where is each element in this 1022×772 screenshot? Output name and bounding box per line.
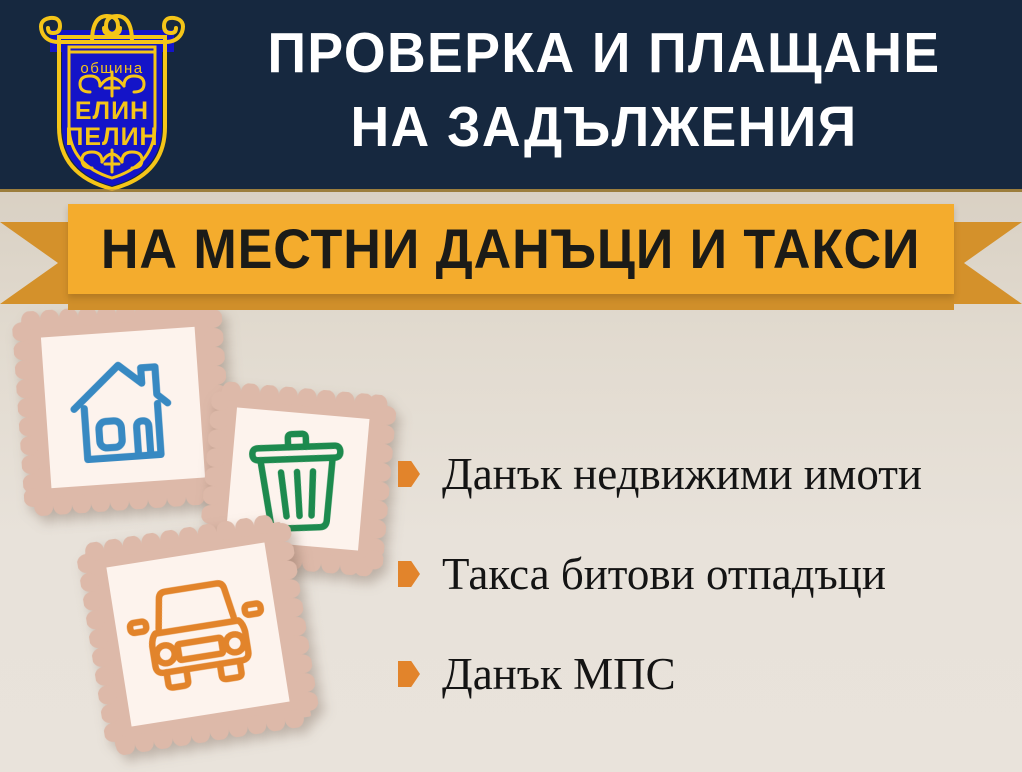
stamp-collage bbox=[0, 300, 420, 772]
crest-label-line2: ПЕЛИН bbox=[65, 123, 158, 151]
header-bottom-accent bbox=[0, 189, 1022, 192]
header-title-line-1: ПРОВЕРКА И ПЛАЩАНЕ bbox=[220, 16, 987, 90]
header-banner: община ЕЛИН ПЕЛИН bbox=[0, 0, 1022, 192]
ribbon-label: НА МЕСТНИ ДАНЪЦИ И ТАКСИ bbox=[101, 220, 921, 278]
stamp-paper-house bbox=[41, 327, 205, 488]
poster-root: община ЕЛИН ПЕЛИН bbox=[0, 0, 1022, 772]
shield-crest-icon: община ЕЛИН ПЕЛИН bbox=[28, 6, 196, 192]
municipality-crest: община ЕЛИН ПЕЛИН bbox=[28, 6, 196, 192]
crest-label-line1: ЕЛИН bbox=[75, 97, 149, 125]
list-item[interactable]: Данък недвижими имоти bbox=[398, 424, 1018, 524]
bullet-arrow-icon bbox=[398, 461, 420, 487]
bullet-arrow-icon bbox=[398, 661, 420, 687]
tax-type-list: Данък недвижими имоти Такса битови отпад… bbox=[398, 424, 1018, 724]
header-title-block: ПРОВЕРКА И ПЛАЩАНЕ НА ЗАДЪЛЖЕНИЯ bbox=[196, 16, 1012, 164]
list-item[interactable]: Такса битови отпадъци bbox=[398, 524, 1018, 624]
ribbon-banner: НА МЕСТНИ ДАНЪЦИ И ТАКСИ bbox=[68, 204, 954, 294]
bullet-arrow-icon bbox=[398, 561, 420, 587]
list-item[interactable]: Данък МПС bbox=[398, 624, 1018, 724]
list-item-label: Данък МПС bbox=[442, 649, 676, 699]
list-item-label: Такса битови отпадъци bbox=[442, 549, 886, 599]
header-title-line-2: НА ЗАДЪЛЖЕНИЯ bbox=[220, 90, 987, 164]
list-item-label: Данък недвижими имоти bbox=[442, 449, 922, 499]
subtitle-ribbon: НА МЕСТНИ ДАНЪЦИ И ТАКСИ bbox=[0, 196, 1022, 312]
stamp-card-house bbox=[11, 298, 235, 517]
stamp-card-car bbox=[75, 511, 322, 757]
